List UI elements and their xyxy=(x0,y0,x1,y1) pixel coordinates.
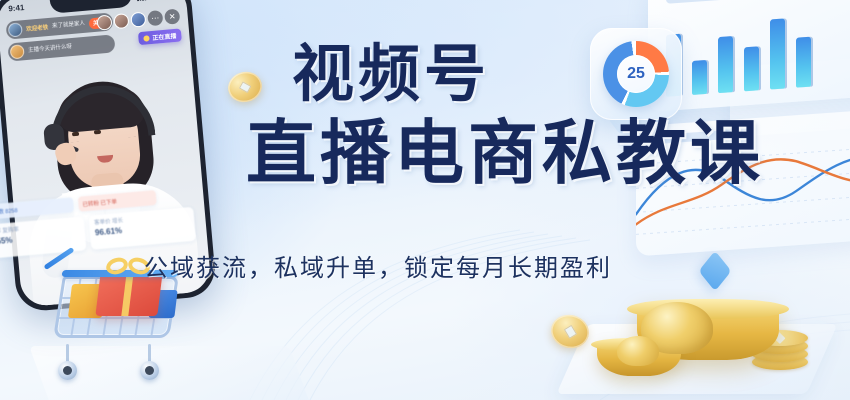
dashboard-metric-card: 客单价 增长 96.61% xyxy=(89,207,197,250)
chat-message: 来了就是家人 xyxy=(52,20,85,30)
viewer-avatar[interactable] xyxy=(113,13,129,29)
page-title-line1: 视频号 xyxy=(292,44,764,106)
gold-ingot-group xyxy=(599,268,814,378)
status-time: 9:41 xyxy=(8,3,25,13)
chat-message: 主播今天讲什么呀 xyxy=(28,44,72,55)
live-status-label: 正在直播 xyxy=(152,31,177,42)
card-caption-bar xyxy=(666,0,758,4)
course-promo-banner: 25 9:41 xyxy=(0,0,850,400)
cart-wheel xyxy=(58,361,77,380)
phone-notch xyxy=(49,0,132,14)
bar-6 xyxy=(796,37,811,88)
headline-group: 视频号 直播电商私教课 xyxy=(292,44,764,188)
viewer-avatar[interactable] xyxy=(130,12,146,28)
page-title-line2: 直播电商私教课 xyxy=(246,118,764,188)
chat-user-name: 欢迎老铁 xyxy=(26,23,49,33)
page-subtitle: 公域获流，私域升单，锁定每月长期盈利 xyxy=(144,248,612,283)
chat-avatar xyxy=(8,22,23,37)
chat-avatar xyxy=(10,44,25,59)
close-icon[interactable]: ✕ xyxy=(164,9,180,25)
chat-bubble[interactable]: 主播今天讲什么呀 xyxy=(7,34,115,61)
bar-5 xyxy=(770,18,785,89)
signal-icon xyxy=(137,0,147,1)
cart-wheel xyxy=(140,361,159,380)
live-dot-icon xyxy=(143,35,150,42)
ellipsis-icon[interactable]: ⋯ xyxy=(147,10,163,26)
live-status-badge[interactable]: 正在直播 xyxy=(138,28,182,45)
viewer-avatar[interactable] xyxy=(96,14,112,30)
cart-handle-grip xyxy=(44,247,75,270)
gold-ingot-small-dome xyxy=(617,336,659,366)
